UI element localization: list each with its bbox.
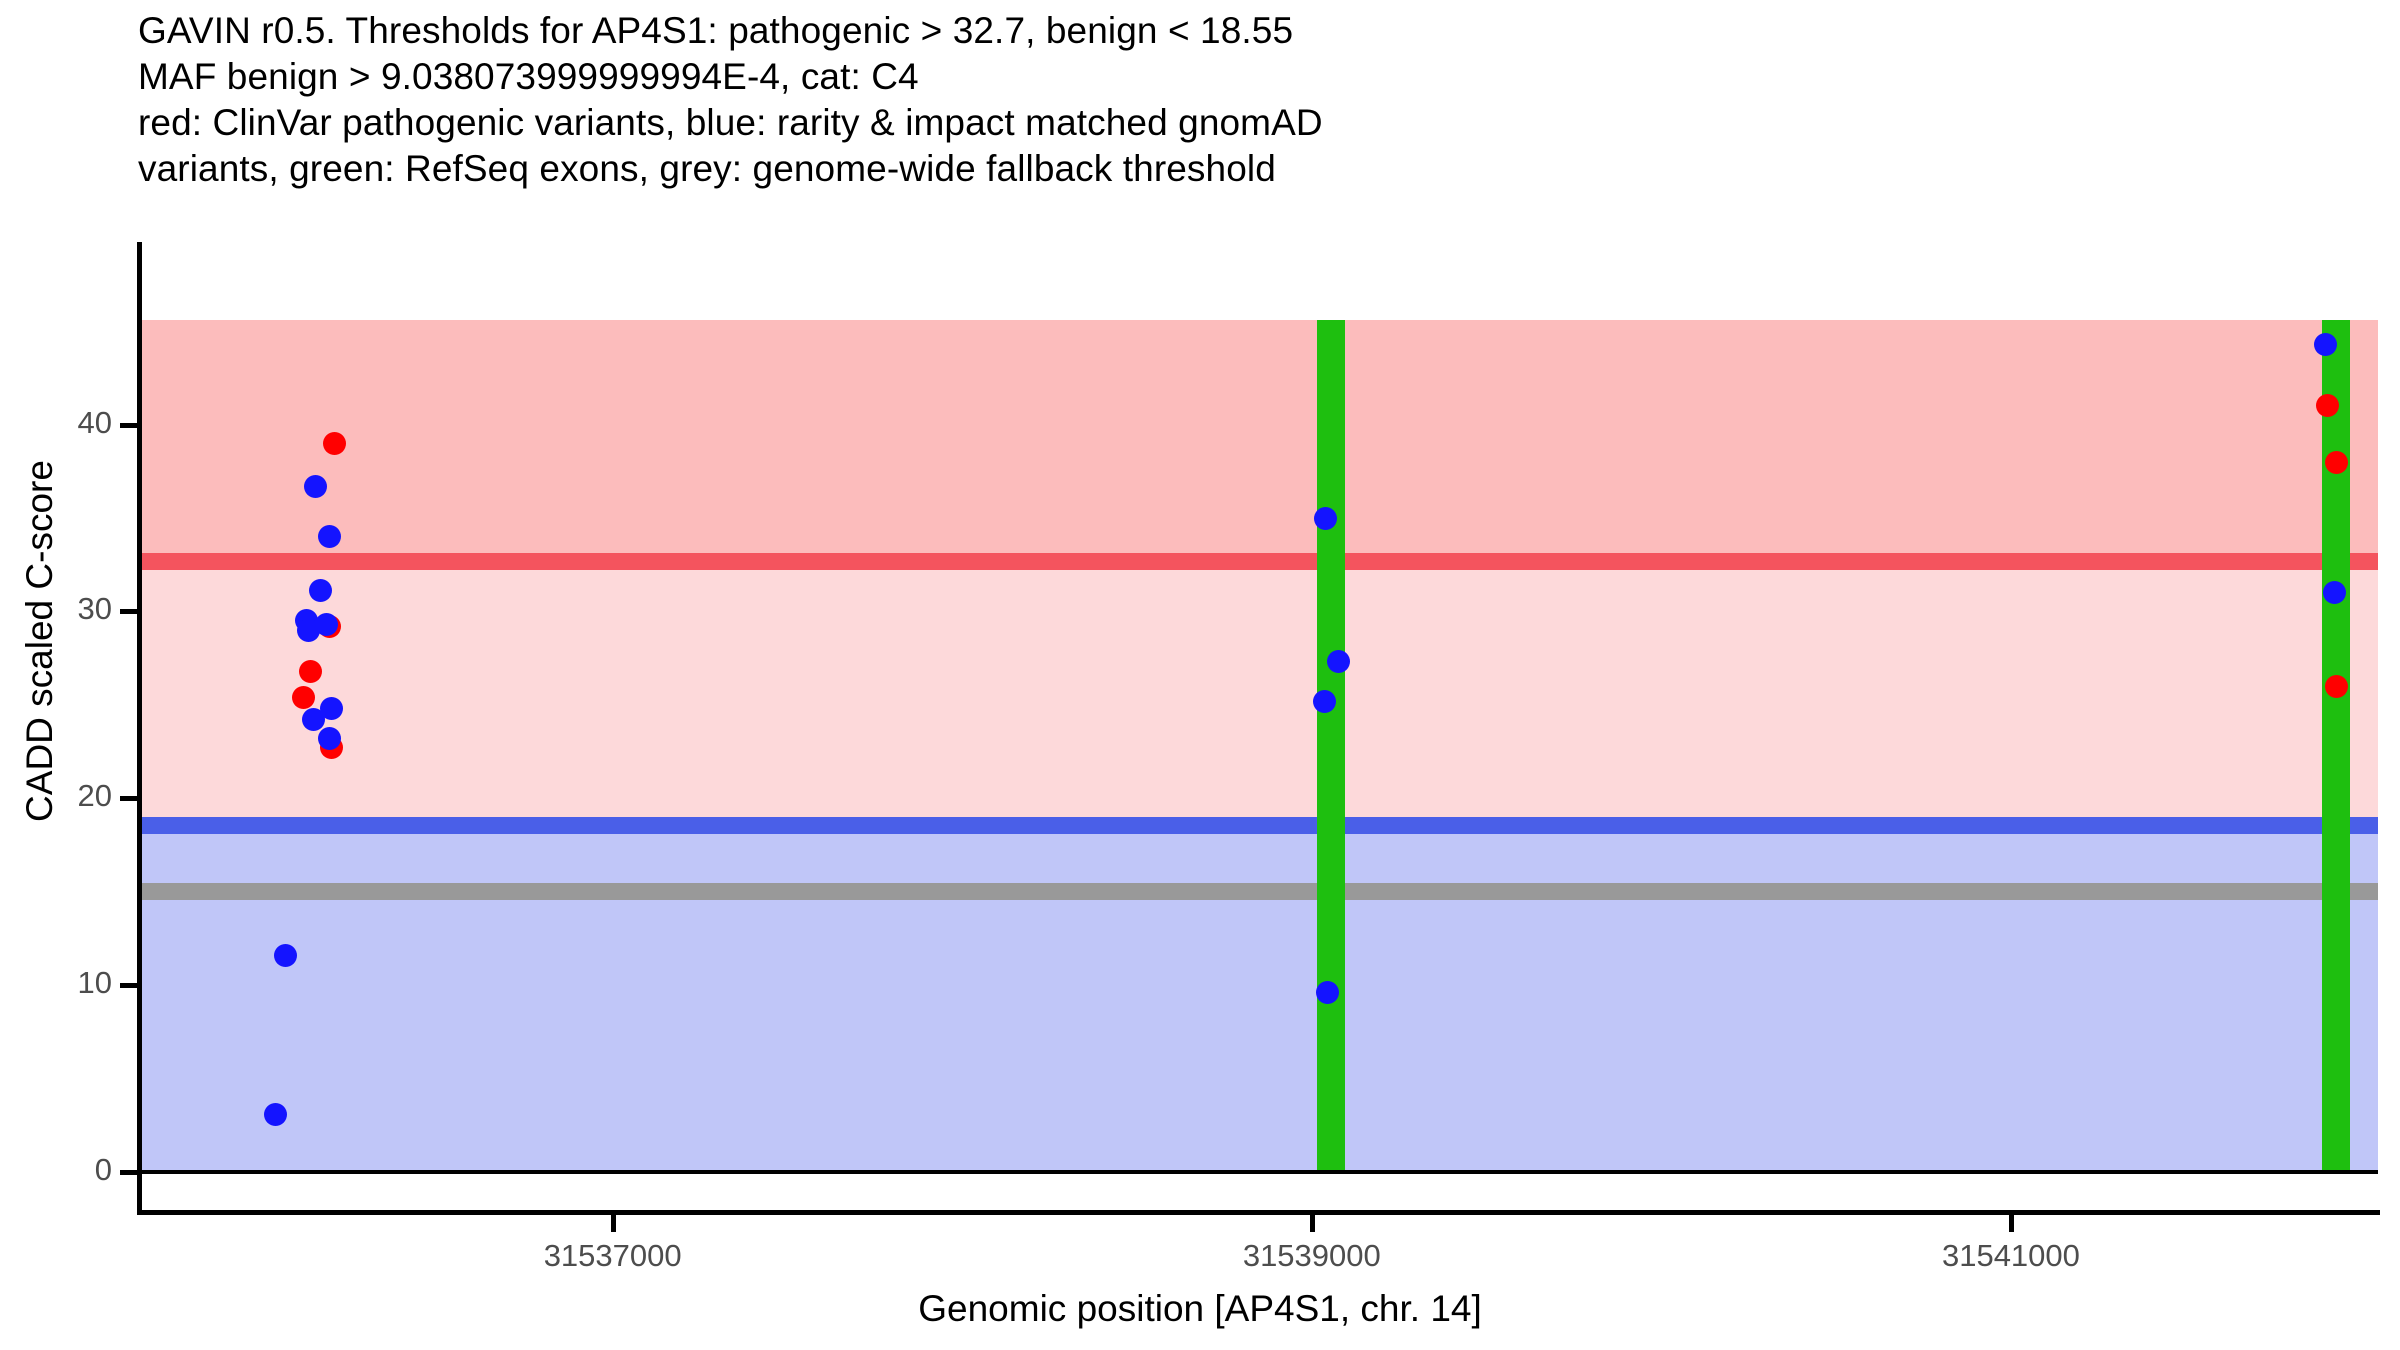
data-point (1314, 507, 1337, 530)
data-point (2325, 451, 2348, 474)
data-point (320, 697, 343, 720)
data-point (274, 944, 297, 967)
data-point (1313, 690, 1336, 713)
x-tick-mark (2009, 1215, 2014, 1232)
title-line-2: MAF benign > 9.038073999999994E-4, cat: … (138, 54, 2358, 100)
data-point (299, 660, 322, 683)
data-point (304, 475, 327, 498)
data-point (1327, 650, 1350, 673)
exon-right (2322, 320, 2350, 1172)
y-axis-line (137, 242, 142, 1215)
x-axis-label: Genomic position [AP4S1, chr. 14] (0, 1288, 2400, 1330)
band-benign (139, 825, 2378, 1172)
y-tick-mark (120, 609, 137, 614)
zero-reference-line (139, 1170, 2378, 1174)
plot-canvas (139, 242, 2378, 1214)
chart-title: GAVIN r0.5. Thresholds for AP4S1: pathog… (138, 8, 2358, 192)
data-point (323, 432, 346, 455)
data-point (2323, 581, 2346, 604)
title-line-4: variants, green: RefSeq exons, grey: gen… (138, 146, 2358, 192)
data-point (2325, 675, 2348, 698)
plot-panel (139, 242, 2378, 1214)
data-point (2314, 333, 2337, 356)
data-point (318, 727, 341, 750)
y-tick-mark (120, 1170, 137, 1175)
x-tick-mark (1310, 1215, 1315, 1232)
data-point (292, 686, 315, 709)
data-point (1316, 981, 1339, 1004)
x-tick-label: 31537000 (544, 1238, 682, 1274)
y-axis-label-holder: CADD scaled C-score (0, 0, 60, 1350)
y-axis-label: CADD scaled C-score (19, 231, 61, 1051)
band-pathogenic-lower (139, 561, 2378, 825)
pathogenic-threshold-line (139, 553, 2378, 570)
x-tick-mark (611, 1215, 616, 1232)
title-line-3: red: ClinVar pathogenic variants, blue: … (138, 100, 2358, 146)
plot-root: GAVIN r0.5. Thresholds for AP4S1: pathog… (0, 0, 2400, 1350)
benign-threshold-line (139, 817, 2378, 834)
y-tick-mark (120, 796, 137, 801)
data-point (264, 1103, 287, 1126)
fallback-threshold-line (139, 883, 2378, 900)
band-pathogenic-upper (139, 320, 2378, 561)
y-tick-mark (120, 983, 137, 988)
data-point (315, 613, 338, 636)
y-tick-mark (120, 423, 137, 428)
x-tick-label: 31539000 (1243, 1238, 1381, 1274)
title-line-1: GAVIN r0.5. Thresholds for AP4S1: pathog… (138, 8, 2358, 54)
exon-middle (1317, 320, 1345, 1172)
x-axis-line (137, 1210, 2380, 1215)
x-tick-label: 31541000 (1942, 1238, 2080, 1274)
